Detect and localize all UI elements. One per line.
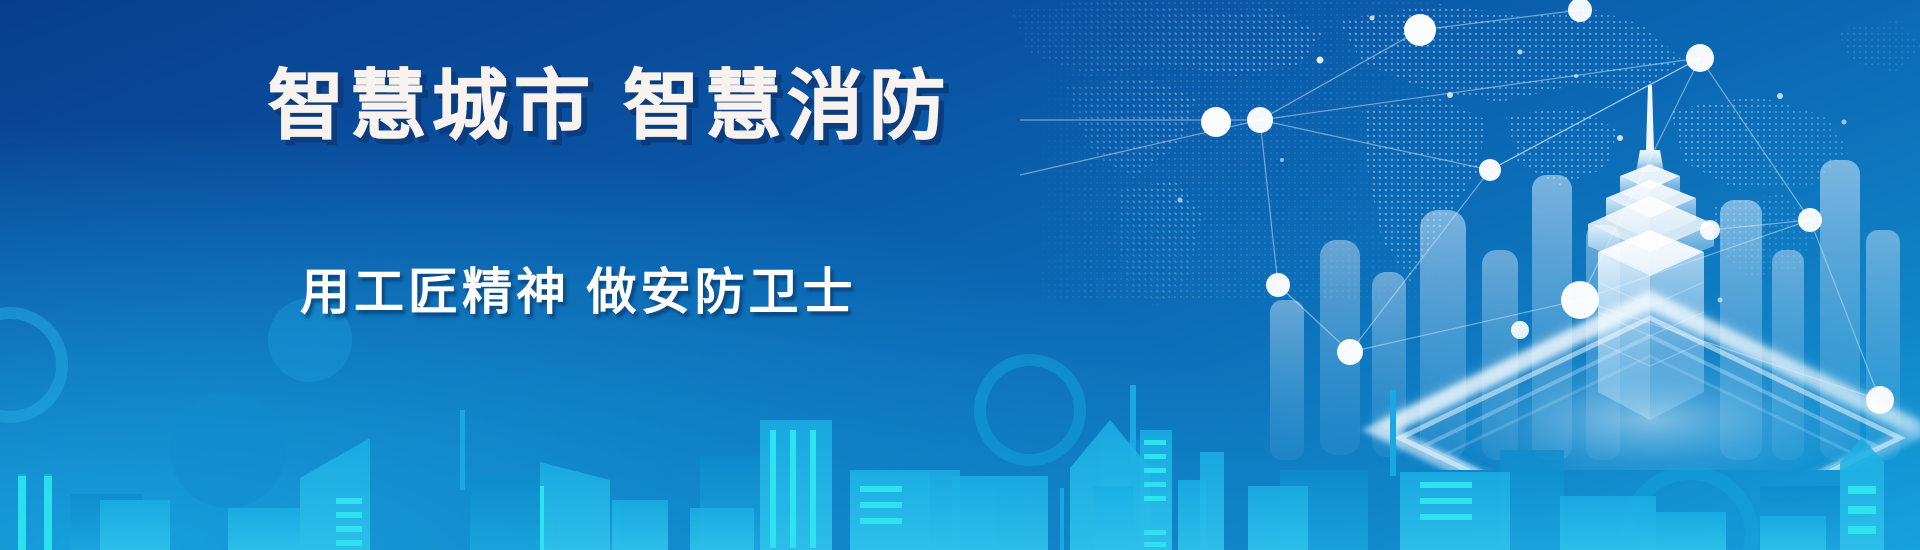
- page-title: 智慧城市 智慧消防: [268, 66, 951, 148]
- banner-copy: 智慧城市 智慧消防 用工匠精神 做安防卫士: [0, 0, 1000, 550]
- page-subtitle: 用工匠精神 做安防卫士: [300, 252, 857, 324]
- smart-city-banner: 智慧城市 智慧消防 用工匠精神 做安防卫士: [0, 0, 1920, 550]
